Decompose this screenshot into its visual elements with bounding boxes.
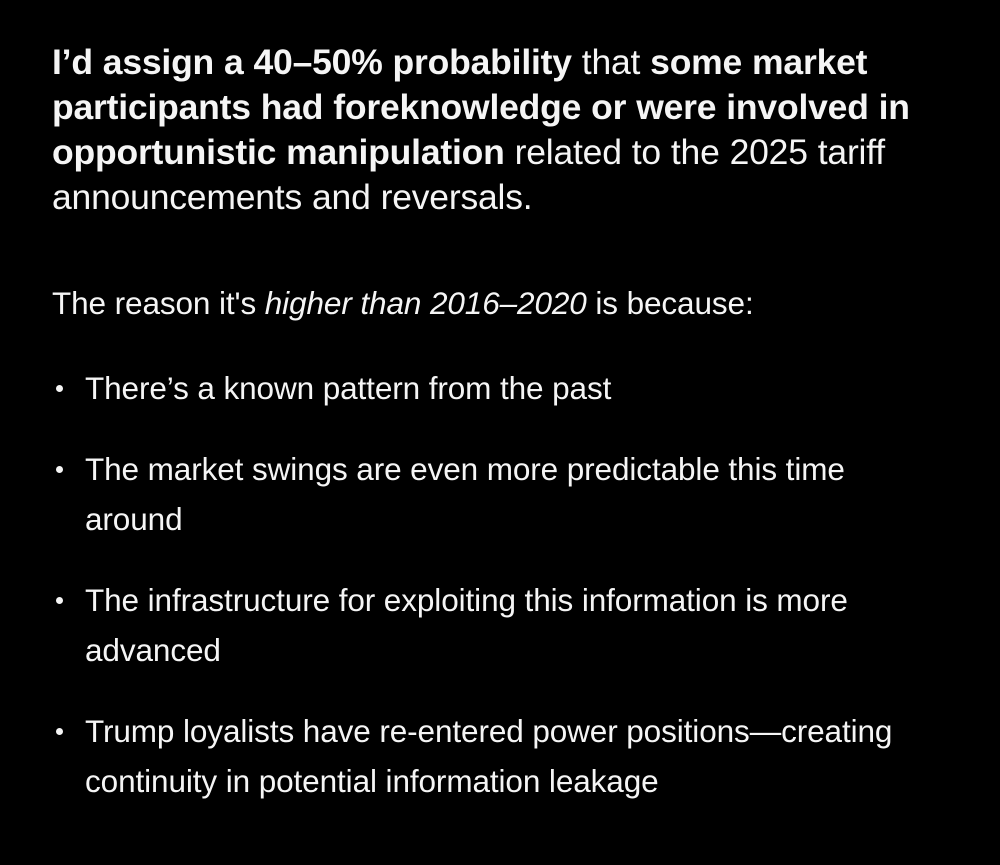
slide-container: I’d assign a 40–50% probability that som… xyxy=(0,0,1000,865)
lead-segment-regular-1: that xyxy=(572,42,650,82)
list-item-label: The market swings are even more predicta… xyxy=(85,451,845,537)
intro-segment-regular-1: The reason it's xyxy=(52,285,265,321)
list-item: The infrastructure for exploiting this i… xyxy=(52,575,948,675)
list-item: The market swings are even more predicta… xyxy=(52,444,948,544)
intro-segment-italic: higher than 2016–2020 xyxy=(265,285,587,321)
list-item: Trump loyalists have re-entered power po… xyxy=(52,706,948,806)
bullet-dot-icon xyxy=(56,597,63,604)
lead-segment-bold-1: I’d assign a 40–50% probability xyxy=(52,42,572,82)
list-item: There’s a known pattern from the past xyxy=(52,363,948,413)
paragraph-spacer xyxy=(52,220,948,281)
reasons-list: There’s a known pattern from the past Th… xyxy=(52,363,948,806)
intro-line: The reason it's higher than 2016–2020 is… xyxy=(52,281,948,325)
list-spacer xyxy=(52,325,948,363)
bullet-dot-icon xyxy=(56,466,63,473)
list-item-label: The infrastructure for exploiting this i… xyxy=(85,582,848,668)
bullet-dot-icon xyxy=(56,385,63,392)
bullet-dot-icon xyxy=(56,728,63,735)
list-item-label: Trump loyalists have re-entered power po… xyxy=(85,713,892,799)
lead-paragraph: I’d assign a 40–50% probability that som… xyxy=(52,40,948,220)
list-item-label: There’s a known pattern from the past xyxy=(85,370,611,406)
intro-segment-regular-2: is because: xyxy=(587,285,754,321)
